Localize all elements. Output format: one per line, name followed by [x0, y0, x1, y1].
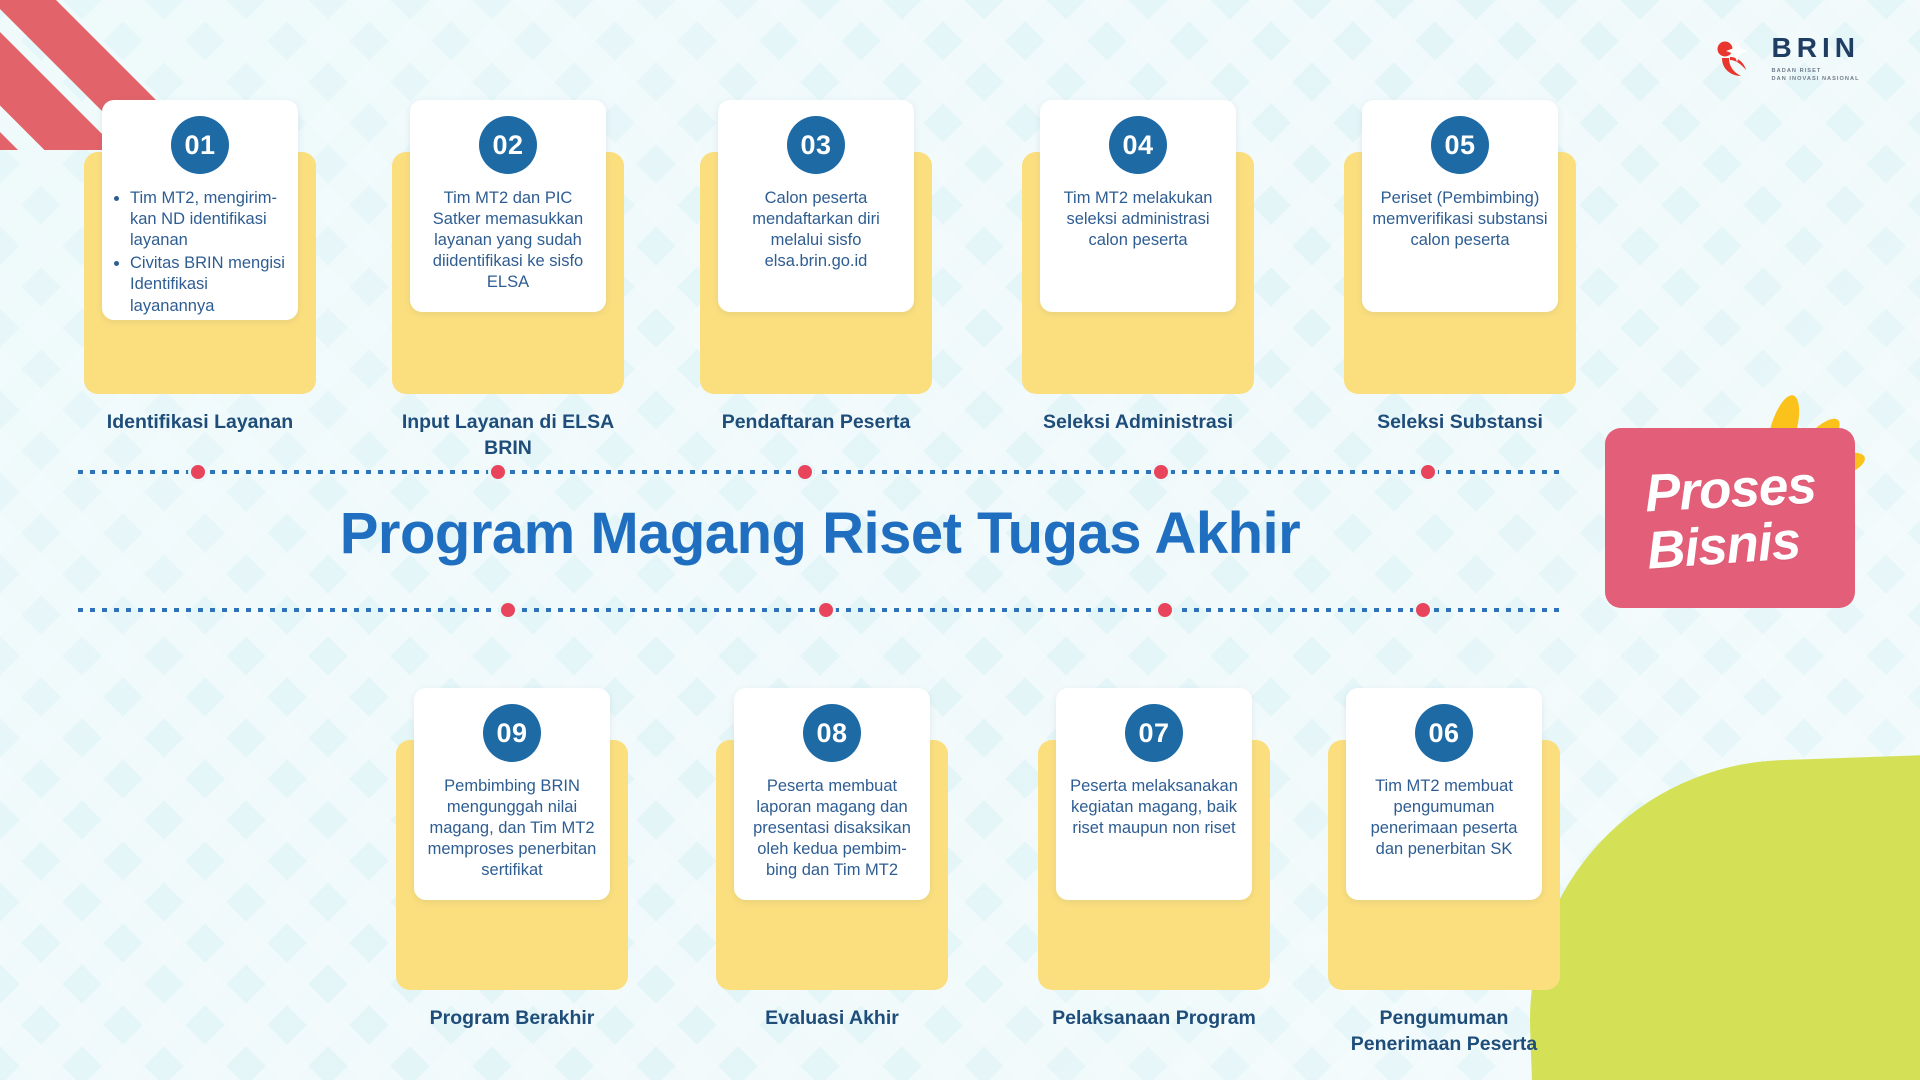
- brin-tagline: BADAN RISET DAN INOVASI NASIONAL: [1772, 67, 1860, 83]
- step-description: Tim MT2, mengirim-kan ND identifikasi la…: [102, 188, 298, 319]
- step-description: Peserta membuat laporan magang dan prese…: [734, 776, 930, 882]
- step-title: Identifikasi Layanan: [84, 410, 316, 436]
- brin-logo: BRIN BADAN RISET DAN INOVASI NASIONAL: [1713, 34, 1860, 83]
- step-description: Tim MT2 membuat pengumuman penerimaan pe…: [1346, 776, 1542, 860]
- step-number-badge: 07: [1125, 704, 1183, 762]
- step-number-badge: 02: [479, 116, 537, 174]
- timeline-bottom-node-4: [1413, 600, 1433, 620]
- badge-label-line-2: Bisnis: [1646, 514, 1802, 579]
- timeline-top-node-4: [1151, 462, 1171, 482]
- step-title: Pelaksanaan Program: [1038, 1006, 1270, 1032]
- step-title: Program Berakhir: [396, 1006, 628, 1032]
- timeline-bottom-node-2: [816, 600, 836, 620]
- page-title: Program Magang Riset Tugas Akhir: [0, 500, 1640, 567]
- timeline-top-node-2: [488, 462, 508, 482]
- step-number-badge: 01: [171, 116, 229, 174]
- step-title: Evaluasi Akhir: [716, 1006, 948, 1032]
- brin-tagline-line-1: BADAN RISET: [1772, 68, 1822, 74]
- step-number-badge: 03: [787, 116, 845, 174]
- step-description: Tim MT2 dan PIC Satker memasukkan layana…: [410, 188, 606, 294]
- step-number-badge: 09: [483, 704, 541, 762]
- step-title: Pendaftaran Peserta: [700, 410, 932, 436]
- step-number-badge: 08: [803, 704, 861, 762]
- timeline-top-dotted-line: [78, 470, 1560, 474]
- step-title: Pengumuman Penerimaan Peserta: [1328, 1006, 1560, 1057]
- brin-wordmark-text: BRIN: [1772, 34, 1860, 62]
- step-description: Calon peserta mendaftarkan diri melalui …: [718, 188, 914, 272]
- timeline-bottom-node-3: [1155, 600, 1175, 620]
- step-description: Periset (Pembimbing) memverifikasi subst…: [1362, 188, 1558, 251]
- brin-wordmark: BRIN BADAN RISET DAN INOVASI NASIONAL: [1772, 34, 1860, 83]
- step-description-list-item: Civitas BRIN mengisi Identifikasi layana…: [130, 253, 288, 316]
- timeline-top-node-3: [795, 462, 815, 482]
- step-description-list-item: Tim MT2, mengirim-kan ND identifikasi la…: [130, 188, 288, 251]
- step-number-badge: 04: [1109, 116, 1167, 174]
- step-title: Seleksi Substansi: [1344, 410, 1576, 436]
- step-description: Peserta melaksanakan kegiatan magang, ba…: [1056, 776, 1252, 839]
- timeline-top-node-5: [1418, 462, 1438, 482]
- step-description: Pembimbing BRIN mengunggah nilai magang,…: [414, 776, 610, 882]
- timeline-bottom-node-1: [498, 600, 518, 620]
- infographic-canvas: BRIN BADAN RISET DAN INOVASI NASIONAL Pr…: [0, 0, 1920, 1080]
- step-number-badge: 05: [1431, 116, 1489, 174]
- step-description-list: Tim MT2, mengirim-kan ND identifikasi la…: [112, 188, 288, 317]
- step-title: Seleksi Administrasi: [1022, 410, 1254, 436]
- step-title: Input Layanan di ELSA BRIN: [392, 410, 624, 461]
- timeline-top: [78, 462, 1560, 482]
- brin-logo-mark-icon: [1713, 36, 1759, 82]
- step-description: Tim MT2 melakukan seleksi administrasi c…: [1040, 188, 1236, 251]
- brin-tagline-line-2: DAN INOVASI NASIONAL: [1772, 76, 1860, 82]
- timeline-top-node-1: [188, 462, 208, 482]
- proses-bisnis-badge-card: Proses Bisnis: [1605, 428, 1855, 608]
- step-number-badge: 06: [1415, 704, 1473, 762]
- timeline-bottom: [78, 600, 1560, 620]
